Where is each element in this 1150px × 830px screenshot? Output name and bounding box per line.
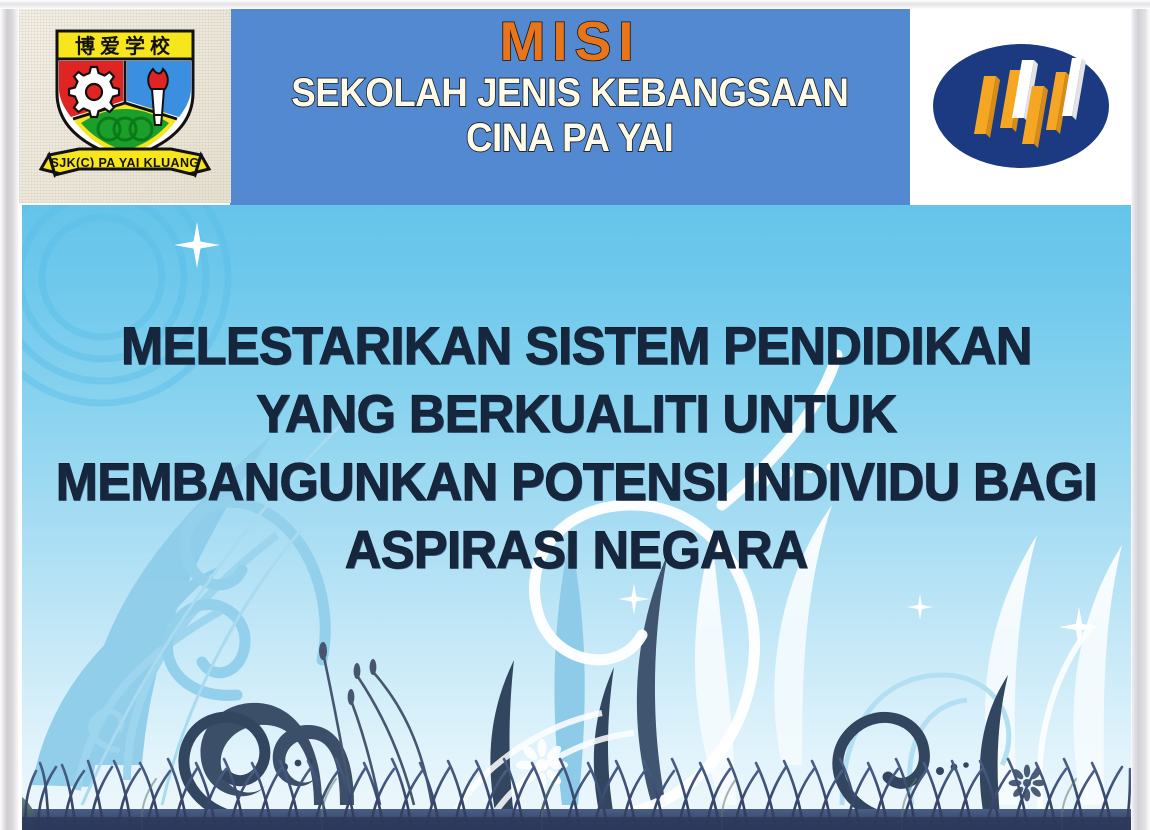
- ministry-oval-logo: [910, 9, 1131, 203]
- header-subtitle-line2: CINA PA YAI: [466, 116, 673, 161]
- sjkc-pa-yai-crest-icon: 博爱学校: [35, 23, 215, 191]
- slide-right-edge: [1131, 0, 1150, 830]
- sparkle-star-icon: [172, 220, 222, 270]
- slide-header: 博爱学校: [0, 0, 1150, 205]
- header-text-group: MISI SEKOLAH JENIS KEBANGSAAN CINA PA YA…: [230, 9, 910, 205]
- presentation-slide: MELESTARIKAN SISTEM PENDIDIKAN YANG BERK…: [0, 0, 1150, 830]
- sparkle-star-icon: [1057, 605, 1101, 649]
- floral-grass-background-art: [22, 205, 1131, 830]
- header-subtitle-line1: SEKOLAH JENIS KEBANGSAAN: [291, 71, 848, 116]
- slide-left-edge: [0, 0, 19, 830]
- sparkle-star-icon: [906, 593, 934, 621]
- svg-text:SJK(C) PA YAI KLUANG: SJK(C) PA YAI KLUANG: [51, 156, 200, 170]
- school-crest-logo: 博爱学校: [19, 9, 231, 203]
- slide-body-panel: [22, 205, 1131, 830]
- slide-top-edge: [0, 0, 1150, 9]
- sparkle-star-icon: [617, 582, 651, 616]
- header-title: MISI: [499, 13, 640, 71]
- svg-text:博爱学校: 博爱学校: [75, 34, 175, 58]
- oval-pillars-emblem-icon: [926, 26, 1116, 186]
